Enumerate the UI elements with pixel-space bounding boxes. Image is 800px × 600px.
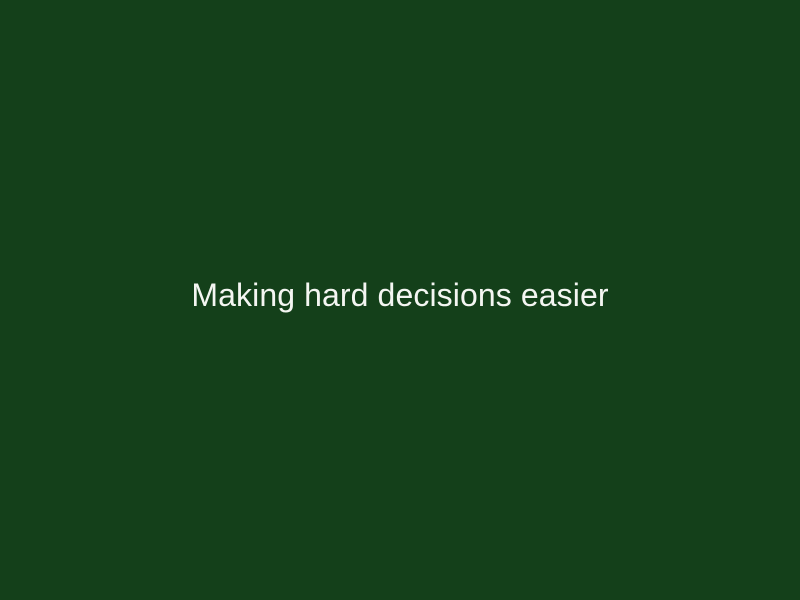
slide-canvas: Making hard decisions easier (0, 0, 800, 600)
headline-text: Making hard decisions easier (0, 279, 800, 311)
headline-container: Making hard decisions easier (0, 0, 800, 600)
